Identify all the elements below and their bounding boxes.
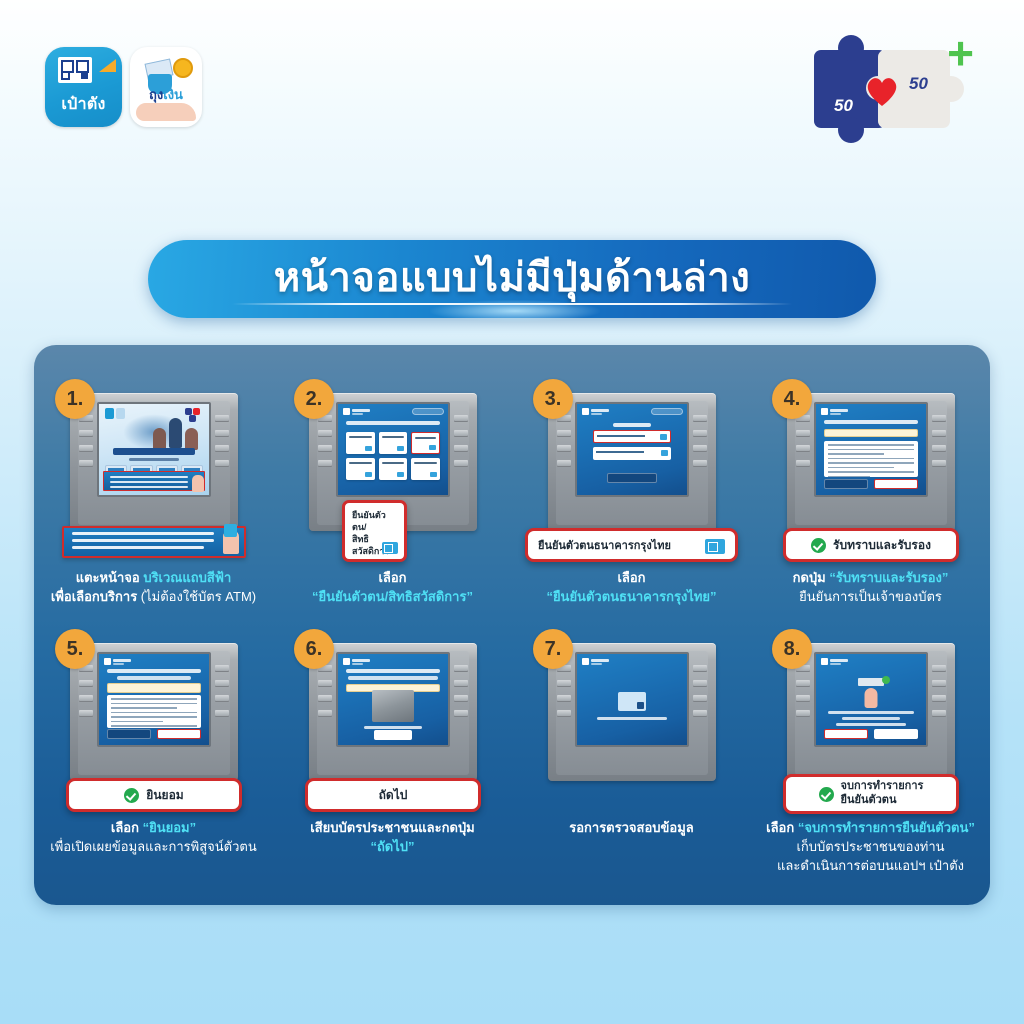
screen-actions[interactable] <box>824 729 918 739</box>
check-circle-icon <box>819 787 834 802</box>
cancel-button[interactable] <box>824 479 868 489</box>
heart-icon <box>862 70 902 110</box>
atm-machine <box>70 643 238 781</box>
atm-side-buttons-left[interactable] <box>318 665 332 725</box>
steps-panel: 1. <box>34 345 990 905</box>
warning-note <box>107 683 201 693</box>
bank-logo <box>821 658 848 665</box>
step-caption: เลือก “ยินยอม” เพื่อเปิดเผยข้อมูลและการพ… <box>38 819 269 857</box>
program-right-value: 50 <box>909 74 928 94</box>
id-card-icon <box>382 542 398 554</box>
program-logo: 50 50 + <box>806 30 976 140</box>
bank-logo <box>343 658 370 665</box>
caption-part: เลือก <box>617 570 645 585</box>
atm-side-buttons-left[interactable] <box>79 415 93 475</box>
check-circle-icon <box>124 788 139 803</box>
atm-side-buttons-left[interactable] <box>796 415 810 475</box>
caption-highlight: “ยินยอม” <box>143 820 197 835</box>
atm-machine <box>70 393 238 531</box>
qr-wallet-icon <box>58 57 92 83</box>
id-card-icon <box>705 539 725 554</box>
tungngern-label: ถุงเงิน <box>130 84 202 105</box>
atm-screen[interactable] <box>575 402 689 497</box>
screen-heading <box>107 669 201 673</box>
callout-line: ยืนยันตัวตนธนาคารกรุงไทย <box>538 536 671 554</box>
finish-button[interactable] <box>824 729 868 739</box>
caption-part: เพื่อเลือกบริการ <box>51 589 141 604</box>
atm-screen[interactable] <box>336 402 450 497</box>
check-circle-icon <box>811 538 826 553</box>
atm-side-buttons-right[interactable] <box>215 415 229 475</box>
caption-highlight: “ยืนยันตัวตน/สิทธิสวัสดิการ” <box>312 589 473 604</box>
bank-logo <box>821 408 848 415</box>
bank-logo <box>582 658 609 665</box>
atm-screen[interactable] <box>97 652 211 747</box>
take-card-hand-icon <box>865 688 878 708</box>
screen-heading <box>613 423 651 427</box>
callout-card: จบการทำรายการ ยืนยันตัวตน <box>783 774 959 814</box>
atm-machine <box>787 643 955 781</box>
step-caption: เลือก “ยืนยันตัวตนธนาคารกรุงไทย” <box>516 569 747 607</box>
hand-icon <box>136 103 196 121</box>
step-badge: 2. <box>294 379 334 419</box>
menu-tile[interactable] <box>379 458 408 480</box>
atm-side-buttons-left[interactable] <box>557 665 571 725</box>
atm-side-buttons-left[interactable] <box>557 415 571 475</box>
consent-document <box>107 695 201 728</box>
tungngern-app-logo: ถุงเงิน <box>130 47 202 127</box>
screen-heading <box>346 421 440 425</box>
caption-part: และดำเนินการต่อบนแอปฯ เป๋าตัง <box>777 858 964 873</box>
paotang-label: เป๋าตัง <box>45 92 122 117</box>
language-button[interactable] <box>412 408 444 415</box>
atm-side-buttons-left[interactable] <box>79 665 93 725</box>
service-list-item-selected[interactable] <box>593 430 671 443</box>
callout-line: ยืนยันตัวตน <box>841 794 924 808</box>
caption-highlight: “จบการทำรายการยืนยันตัวตน” <box>798 820 975 835</box>
caption-part: เลือก <box>766 820 798 835</box>
step-caption: เลือก “ยืนยันตัวตน/สิทธิสวัสดิการ” <box>277 569 508 607</box>
step-badge: 3. <box>533 379 573 419</box>
screen-hint-text <box>364 726 422 729</box>
step-badge: 7. <box>533 629 573 669</box>
consent-button[interactable] <box>157 729 201 739</box>
program-left-value: 50 <box>834 96 853 116</box>
step-caption: รอการตรวจสอบข้อมูล <box>516 819 747 838</box>
caption-part: ยืนยันการเป็นเจ้าของบัตร <box>799 589 942 604</box>
caption-part: เสียบบัตรประชาชนและกดปุ่ม <box>310 820 474 835</box>
menu-tile[interactable] <box>346 458 375 480</box>
terms-document <box>824 441 918 477</box>
caption-part: เก็บบัตรประชาชนของท่าน <box>796 839 944 854</box>
continue-button[interactable] <box>874 729 918 739</box>
callout-card: รับทราบและรับรอง <box>783 528 959 562</box>
caption-part: กดปุ่ม <box>793 570 830 585</box>
decline-button[interactable] <box>107 729 151 739</box>
atm-machine <box>309 643 477 781</box>
tungngern-label-main: ถุง <box>149 87 163 102</box>
touch-hand-icon <box>192 475 204 492</box>
atm-screen[interactable] <box>814 652 928 747</box>
caption-part: แตะหน้าจอ <box>76 570 144 585</box>
atm-machine <box>787 393 955 531</box>
atm-screen[interactable] <box>814 402 928 497</box>
step-caption: เลือก “จบการทำรายการยืนยันตัวตน” เก็บบัต… <box>755 819 986 876</box>
insert-card-illustration <box>372 690 414 722</box>
step-caption: กดปุ่ม “รับทราบและรับรอง” ยืนยันการเป็นเ… <box>755 569 986 607</box>
callout-line: ยืนยันตัวตน/ <box>352 509 398 533</box>
bank-logo <box>104 658 131 665</box>
atm-side-buttons-left[interactable] <box>318 415 332 475</box>
paotang-app-logo: เป๋าตัง <box>45 47 122 127</box>
promo-logo-right <box>185 408 203 422</box>
callout-card: ยืนยันตัวตน/ สิทธิสวัสดิการ <box>342 500 407 562</box>
callout-card: ยินยอม <box>66 778 242 812</box>
service-list[interactable] <box>593 430 671 464</box>
title-glow <box>430 300 600 322</box>
callout-line: รับทราบและรับรอง <box>833 536 931 555</box>
caption-highlight: “รับทราบและรับรอง” <box>829 570 948 585</box>
screen-heading-2 <box>117 676 191 680</box>
callout-line: ยินยอม <box>146 786 183 805</box>
step-badge: 8. <box>772 629 812 669</box>
step-badge: 1. <box>55 379 95 419</box>
menu-tile[interactable] <box>346 432 375 454</box>
service-list-item[interactable] <box>593 447 671 460</box>
screen-heading <box>824 420 918 424</box>
screen-actions[interactable] <box>107 729 201 739</box>
bank-logo <box>582 408 609 415</box>
screen-message <box>828 711 914 729</box>
atm-side-buttons-right[interactable] <box>215 665 229 725</box>
card-processing-icon <box>618 692 646 711</box>
screen-heading-2 <box>348 676 438 680</box>
callout-card: ถัดไป <box>305 778 481 812</box>
touch-hand-icon <box>223 530 239 554</box>
touch-strip-callout <box>62 526 246 558</box>
screen-actions[interactable] <box>824 479 918 489</box>
caption-highlight: บริเวณแถบสีฟ้า <box>143 570 231 585</box>
warning-note <box>824 429 918 437</box>
atm-machine <box>548 643 716 781</box>
card-slot-icon <box>858 678 884 686</box>
next-button[interactable] <box>374 730 412 740</box>
step-badge: 6. <box>294 629 334 669</box>
caption-highlight: “ยืนยันตัวตนธนาคารกรุงไทย” <box>546 589 716 604</box>
service-menu-grid[interactable] <box>346 432 440 480</box>
card-fold-icon <box>99 59 116 72</box>
page-header: เป๋าตัง ถุงเงิน 50 50 + <box>0 0 1024 150</box>
plus-icon: + <box>947 30 974 76</box>
menu-tile[interactable] <box>411 458 440 480</box>
promo-subtitle <box>129 458 179 461</box>
accept-button[interactable] <box>874 479 918 489</box>
step-caption: เสียบบัตรประชาชนและกดปุ่ม “ถัดไป” <box>277 819 508 857</box>
waiting-text <box>597 717 667 720</box>
bank-logo <box>343 408 370 415</box>
success-dot-icon <box>882 676 890 684</box>
coin-icon <box>173 58 193 78</box>
app-logos-group: เป๋าตัง ถุงเงิน <box>45 47 202 127</box>
caption-highlight: “ถัดไป” <box>370 839 414 854</box>
caption-part: เลือก <box>378 570 406 585</box>
menu-tile-selected[interactable] <box>411 432 440 454</box>
callout-line: จบการทำรายการ <box>841 780 924 794</box>
callout-line: ถัดไป <box>379 786 408 805</box>
atm-side-buttons-right[interactable] <box>932 415 946 475</box>
atm-side-buttons-left[interactable] <box>796 665 810 725</box>
caption-part: เพื่อเปิดเผยข้อมูลและการพิสูจน์ตัวตน <box>50 839 256 854</box>
callout-card: ยืนยันตัวตนธนาคารกรุงไทย <box>525 528 738 562</box>
atm-screen[interactable] <box>97 402 211 497</box>
tungngern-label-accent: เงิน <box>163 87 183 102</box>
atm-screen[interactable] <box>336 652 450 747</box>
atm-side-buttons-right[interactable] <box>932 665 946 725</box>
atm-touch-strip-onscreen[interactable] <box>103 471 205 491</box>
step-badge: 5. <box>55 629 95 669</box>
caption-part: เลือก <box>111 820 143 835</box>
menu-tile[interactable] <box>379 432 408 454</box>
atm-side-buttons-right[interactable] <box>693 415 707 475</box>
caption-part: (ไม่ต้องใช้บัตร ATM) <box>141 589 256 604</box>
screen-heading <box>346 669 440 673</box>
language-button[interactable] <box>651 408 683 415</box>
atm-machine <box>548 393 716 531</box>
promo-title <box>113 448 195 455</box>
atm-side-buttons-right[interactable] <box>454 665 468 725</box>
atm-side-buttons-right[interactable] <box>454 415 468 475</box>
caption-part: รอการตรวจสอบข้อมูล <box>569 820 694 835</box>
promo-people-photo <box>123 414 185 450</box>
atm-side-buttons-right[interactable] <box>693 665 707 725</box>
cancel-button[interactable] <box>607 473 657 483</box>
step-caption: แตะหน้าจอ บริเวณแถบสีฟ้า เพื่อเลือกบริกา… <box>38 569 269 607</box>
step-badge: 4. <box>772 379 812 419</box>
atm-screen[interactable] <box>575 652 689 747</box>
